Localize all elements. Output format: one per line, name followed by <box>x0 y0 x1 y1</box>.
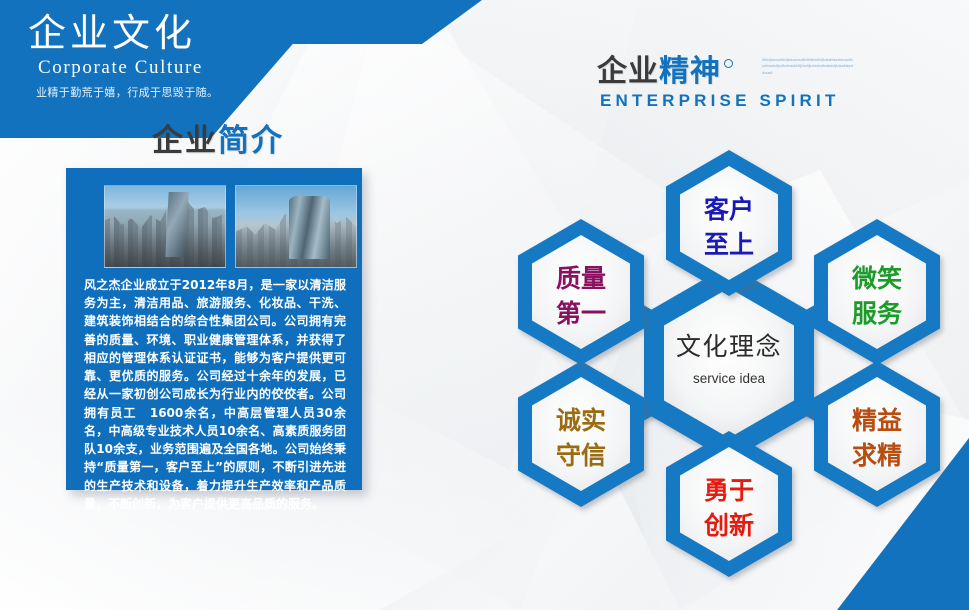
hex-node-excellence-line1: 精益 <box>852 406 902 435</box>
company-profile-heading-blue: 简介 <box>218 123 284 159</box>
city-skyline-photo-2 <box>235 185 357 268</box>
decorative-microtext: dfdsfjsduwdfdsfjkduwmsdkfdfdfsfsdfsfjkds… <box>762 57 854 76</box>
hex-node-integrity-line2: 守信 <box>556 441 606 470</box>
banner-subtitle: 业精于勤荒于嬉，行成于思毁于随。 <box>36 84 218 100</box>
corporate-culture-poster: 企业文化 Corporate Culture 业精于勤荒于嬉，行成于思毁于随。 … <box>0 0 969 610</box>
photo-row <box>104 185 357 268</box>
enterprise-spirit-heading-blue: 精神 <box>659 54 721 89</box>
banner-text-group: 企业文化 Corporate Culture 业精于勤荒于嬉，行成于思毁于随。 <box>28 12 218 100</box>
enterprise-spirit-heading-dark: 企业 <box>597 54 659 89</box>
city-skyline-photo-1 <box>104 185 226 268</box>
hex-node-integrity-line1: 诚实 <box>556 406 606 435</box>
company-profile-body: 风之杰企业成立于2012年8月，是一家以清洁服务为主，清洁用品、旅游服务、化妆品… <box>84 276 346 513</box>
hex-node-customer-first-line2: 至上 <box>704 230 754 259</box>
company-profile-heading-dark: 企业 <box>152 123 218 159</box>
hex-center-label-cn: 文化理念 <box>676 332 782 361</box>
hex-node-customer-first-line1: 客户 <box>704 195 754 224</box>
hex-node-quality-first-line1: 质量 <box>556 264 606 293</box>
culture-hexagon-diagram: 文化理念 service idea 客户 至上 微笑 服务 精益 求精 <box>498 118 960 600</box>
enterprise-spirit-heading-en: ENTERPRISE SPIRIT <box>600 91 840 111</box>
hex-node-quality-first-line2: 第一 <box>556 299 606 328</box>
hex-node-innovation-line2: 创新 <box>703 511 754 540</box>
hex-node-excellence-line2: 求精 <box>852 441 902 470</box>
banner-title-en: Corporate Culture <box>38 57 218 79</box>
hex-node-smile-service-line2: 服务 <box>852 299 902 328</box>
hex-center-label-en: service idea <box>693 371 766 386</box>
hex-node-innovation-line1: 勇于 <box>704 476 754 505</box>
circle-dot-icon <box>724 59 733 68</box>
company-profile-heading: 企业简介 <box>152 115 284 160</box>
banner-title-cn: 企业文化 <box>28 12 218 55</box>
hex-node-smile-service-line1: 微笑 <box>851 264 902 293</box>
enterprise-spirit-heading: 企业精神 ENTERPRISE SPIRIT dfdsfjsduwdfdsfjk… <box>597 55 840 111</box>
company-profile-card: 风之杰企业成立于2012年8月，是一家以清洁服务为主，清洁用品、旅游服务、化妆品… <box>66 168 362 490</box>
